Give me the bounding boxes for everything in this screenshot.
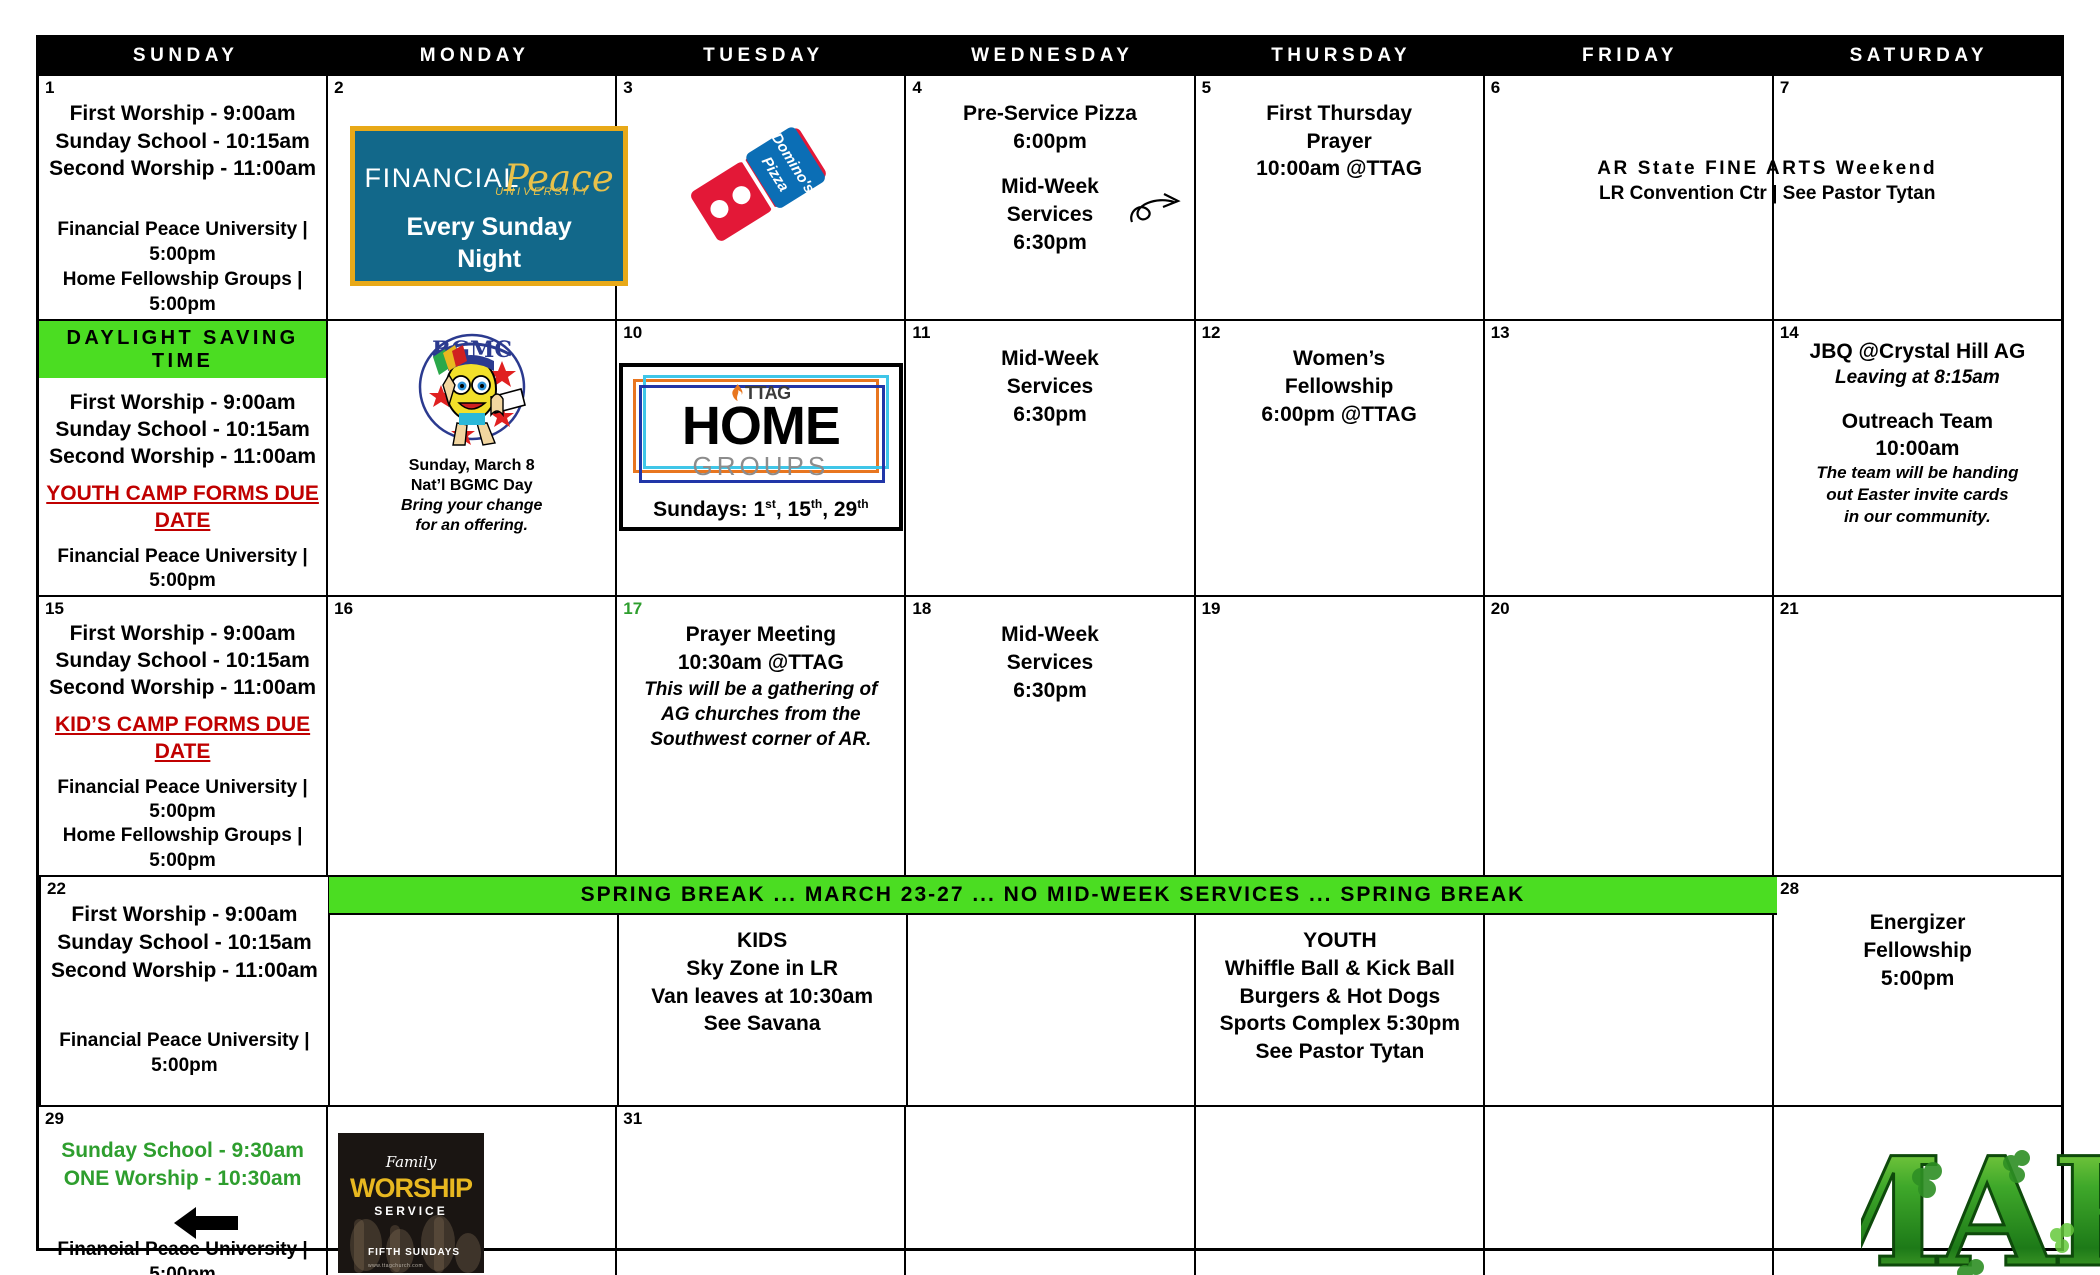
empty-cell-c: For additional information regarding the…	[1483, 1107, 1772, 1275]
event-text: See Savana	[622, 1010, 903, 1038]
day-cell-10[interactable]: 10 TTAG HOME GROUPS Sundays: 1st, 15th, …	[615, 321, 904, 595]
day-number: 22	[47, 879, 66, 899]
day-number: 10	[623, 323, 642, 343]
event-text: 6:30pm	[909, 677, 1190, 705]
svg-text:www.ttagchurch.com: www.ttagchurch.com	[368, 1263, 423, 1269]
spacer	[1777, 391, 2058, 409]
event-text: Second Worship - 11:00am	[42, 155, 323, 183]
empty-cell-b	[1194, 1107, 1483, 1275]
event-text: Southwest corner of AR.	[620, 727, 901, 752]
event-text: First Worship - 9:00am	[42, 621, 323, 648]
weekday-saturday: SATURDAY	[1772, 38, 2061, 74]
day-cell-8[interactable]: DAYLIGHT SAVING TIME First Worship - 9:0…	[39, 321, 326, 595]
event-text: See Pastor Tytan	[1199, 1038, 1480, 1066]
home-text: HOME	[682, 399, 840, 453]
day-number: 17	[623, 599, 642, 619]
sundays-label: Sundays:	[653, 498, 753, 521]
svg-text:FIFTH SUNDAYS: FIFTH SUNDAYS	[368, 1247, 460, 1258]
svg-text:SERVICE: SERVICE	[374, 1204, 447, 1218]
fpu-university-text: UNIVERSITY	[495, 186, 591, 198]
event-text: 10:00am @TTAG	[1199, 155, 1480, 183]
event-text: Services	[909, 649, 1190, 677]
event-text: Sunday School - 9:30am	[42, 1137, 323, 1165]
event-text: Leaving at 8:15am	[1777, 366, 2058, 390]
weekday-thursday: THURSDAY	[1194, 38, 1483, 74]
event-text: 10:00am	[1777, 436, 2058, 463]
event-text: Services	[909, 373, 1190, 401]
event-footer: Financial Peace University | 5:00pm	[42, 545, 323, 594]
fpu-subtitle-line1: Every Sunday	[406, 211, 571, 243]
day-number: 16	[334, 599, 353, 619]
event-text: Sunday School - 10:15am	[44, 929, 325, 957]
spacer	[42, 535, 323, 545]
day-number: 21	[1780, 599, 1799, 619]
event-text: Outreach Team	[1777, 409, 2058, 436]
event-text: Sky Zone in LR	[622, 955, 903, 983]
day-cell-18[interactable]: 18 Mid-Week Services 6:30pm	[904, 597, 1193, 875]
day-number: 11	[912, 323, 930, 343]
day-cell-7[interactable]: 7	[1772, 76, 2061, 319]
event-text: Burgers & Hot Dogs	[1199, 983, 1480, 1011]
spacer	[44, 1018, 325, 1028]
empty-cell-a: MARCH	[904, 1107, 1193, 1275]
event-text: Second Worship - 11:00am	[44, 957, 325, 985]
day-number: 31	[623, 1109, 642, 1129]
event-footer: Financial Peace University | 5:00pm	[42, 217, 323, 267]
bgmc-caption-line: Bring your change	[331, 496, 612, 516]
week-row-4: SPRING BREAK ... MARCH 23-27 ... NO MID-…	[39, 875, 2061, 1105]
event-text: Sunday School - 10:15am	[42, 648, 323, 675]
event-text: Fellowship	[1199, 373, 1480, 401]
week-row-2: DAYLIGHT SAVING TIME First Worship - 9:0…	[39, 319, 2061, 595]
day-cell-20[interactable]: 20	[1483, 597, 1772, 875]
event-text: AG churches from the	[620, 702, 901, 727]
week-row-3: 15 First Worship - 9:00am Sunday School …	[39, 595, 2061, 875]
event-text: out Easter invite cards	[1777, 484, 2058, 506]
event-footer: Home Fellowship Groups | 5:00pm	[42, 267, 323, 317]
svg-text:Family: Family	[385, 1153, 437, 1171]
day-cell-6[interactable]: 6 AR State FINE ARTS Weekend LR Conventi…	[1483, 76, 1772, 319]
bgmc-logo-icon: BGMC	[403, 327, 541, 455]
day-cell-11[interactable]: 11 Mid-Week Services 6:30pm	[904, 321, 1193, 595]
day-number: 3	[623, 78, 632, 98]
spacer	[909, 155, 1190, 173]
day-number: 19	[1202, 599, 1221, 619]
day-number: 20	[1491, 599, 1510, 619]
weekday-wednesday: WEDNESDAY	[906, 38, 1195, 74]
event-text: First Worship - 9:00am	[42, 100, 323, 128]
event-text: Mid-Week	[909, 621, 1190, 649]
curved-arrow-icon	[1126, 188, 1188, 238]
event-text: Energizer	[1777, 909, 2058, 937]
day-cell-12[interactable]: 12 Women’s Fellowship 6:00pm @TTAG	[1194, 321, 1483, 595]
bgmc-caption-line: for an offering.	[331, 516, 612, 536]
day-cell-4[interactable]: 4 Pre-Service Pizza 6:00pm Mid-Week Serv…	[904, 76, 1193, 319]
event-text: Second Worship - 11:00am	[42, 444, 323, 471]
day-number: 4	[912, 78, 921, 98]
event-text: JBQ @Crystal Hill AG	[1777, 339, 2058, 366]
day-cell-31[interactable]: 31	[615, 1107, 904, 1275]
day-cell-2[interactable]: 2 FINANCIALPeace UNIVERSITY Every Sunday…	[326, 76, 615, 319]
week-row-1: 1 First Worship - 9:00am Sunday School -…	[39, 74, 2061, 319]
event-text: 6:30pm	[909, 401, 1190, 429]
dominos-pizza-logo-icon: Domino's Pizza	[686, 124, 836, 242]
event-text: KIDS	[622, 927, 903, 955]
day-cell-22[interactable]: 22 First Worship - 9:00am Sunday School …	[39, 877, 328, 1105]
day-number: 6	[1491, 78, 1500, 98]
week-row-5: 29 Sunday School - 9:30am ONE Worship - …	[39, 1105, 2061, 1275]
event-text: 10:30am @TTAG	[620, 649, 901, 677]
day-number: 14	[1780, 323, 1799, 343]
event-text: This will be a gathering of	[620, 677, 901, 702]
day-cell-30[interactable]: 30	[326, 1107, 615, 1275]
youth-camp-forms-due-note: YOUTH CAMP FORMS DUE DATE	[42, 481, 323, 535]
day-cell-9[interactable]: 9 BGMC	[326, 321, 615, 595]
event-text: 5:00pm	[1777, 965, 2058, 993]
event-text: Van leaves at 10:30am	[622, 983, 903, 1011]
day-number: 18	[912, 599, 931, 619]
event-text: ONE Worship - 10:30am	[42, 1165, 323, 1193]
spacer	[42, 183, 323, 217]
bgmc-caption-line: Sunday, March 8	[331, 456, 612, 476]
day-cell-21[interactable]: 21	[1772, 597, 2061, 875]
event-text: Pre-Service Pizza	[909, 100, 1190, 128]
weekday-friday: FRIDAY	[1483, 38, 1772, 74]
fpu-logo: FINANCIALPeace UNIVERSITY	[355, 153, 623, 193]
event-text: First Worship - 9:00am	[44, 901, 325, 929]
kids-camp-forms-due-note: KID’S CAMP FORMS DUE DATE	[42, 712, 323, 766]
weekday-monday: MONDAY	[328, 38, 617, 74]
event-text: Prayer Meeting	[620, 621, 901, 649]
day-number: 15	[45, 599, 64, 619]
bgmc-block: BGMC	[331, 323, 612, 535]
event-text: First Worship - 9:00am	[42, 390, 323, 417]
ttag-home-groups-logo[interactable]: TTAG HOME GROUPS Sundays: 1st, 15th, 29t…	[619, 363, 903, 531]
day-number: 7	[1780, 78, 1789, 98]
day-number: 12	[1202, 323, 1221, 343]
event-text: The team will be handing	[1777, 462, 2058, 484]
event-text: Fellowship	[1777, 937, 2058, 965]
weekday-sunday: SUNDAY	[39, 38, 328, 74]
day-number: 13	[1491, 323, 1510, 343]
day-number: 5	[1202, 78, 1211, 98]
day-number: 28	[1780, 879, 1799, 899]
day-cell-16[interactable]: 16	[326, 597, 615, 875]
event-footer: Financial Peace University | 5:00pm	[42, 776, 323, 825]
event-text: YOUTH	[1199, 927, 1480, 955]
event-text: 6:00pm @TTAG	[1199, 401, 1480, 429]
fpu-subtitle: Every Sunday Night	[406, 211, 571, 275]
calendar-page: SUNDAY MONDAY TUESDAY WEDNESDAY THURSDAY…	[0, 0, 2100, 1275]
day-cell-14[interactable]: 14 JBQ @Crystal Hill AG Leaving at 8:15a…	[1772, 321, 2061, 595]
event-text: Sports Complex 5:30pm	[1199, 1010, 1480, 1038]
day-cell-29[interactable]: 29 Sunday School - 9:30am ONE Worship - …	[39, 1107, 326, 1275]
spacer	[42, 471, 323, 481]
home-groups-logo-frame: TTAG HOME GROUPS	[631, 375, 891, 485]
home-groups-dates: Sundays: 1st, 15th, 29th	[631, 497, 891, 522]
day-cell-19[interactable]: 19	[1194, 597, 1483, 875]
day-number: 1	[45, 78, 54, 98]
financial-peace-university-banner[interactable]: FINANCIALPeace UNIVERSITY Every Sunday N…	[350, 126, 628, 286]
event-text: Mid-Week	[909, 345, 1190, 373]
daylight-saving-time-banner: DAYLIGHT SAVING TIME	[39, 321, 326, 378]
day-cell-13[interactable]: 13	[1483, 321, 1772, 595]
event-footer: Home Fellowship Groups | 5:00pm	[42, 824, 323, 873]
event-text: First Thursday	[1199, 100, 1480, 128]
day-cell-15[interactable]: 15 First Worship - 9:00am Sunday School …	[39, 597, 326, 875]
event-text: Women’s	[1199, 345, 1480, 373]
day-cell-5[interactable]: 5 First Thursday Prayer 10:00am @TTAG	[1194, 76, 1483, 319]
family-worship-service-image[interactable]: Family WORSHIP SERVICE FIFTH SUNDAYS www…	[338, 1133, 484, 1273]
groups-text: GROUPS	[693, 453, 830, 479]
event-footer: Financial Peace University | 5:00pm	[44, 1028, 325, 1078]
bgmc-caption-line: Nat’l BGMC Day	[331, 476, 612, 496]
weekday-header-row: SUNDAY MONDAY TUESDAY WEDNESDAY THURSDAY…	[39, 38, 2061, 74]
day-number: 2	[334, 78, 343, 98]
event-text: Sunday School - 10:15am	[42, 128, 323, 156]
left-arrow-icon	[174, 1203, 238, 1243]
fpu-subtitle-line2: Night	[406, 243, 571, 275]
svg-text:WORSHIP: WORSHIP	[350, 1173, 473, 1203]
event-text: Sunday School - 10:15am	[42, 417, 323, 444]
event-text: Second Worship - 11:00am	[42, 675, 323, 702]
weekday-tuesday: TUESDAY	[617, 38, 906, 74]
event-text: Prayer	[1199, 128, 1480, 156]
day-cell-17[interactable]: 17 Prayer Meeting 10:30am @TTAG This wil…	[615, 597, 904, 875]
calendar-grid: SUNDAY MONDAY TUESDAY WEDNESDAY THURSDAY…	[36, 35, 2064, 1251]
event-text: in our community.	[1777, 506, 2058, 528]
march-month-graphic: MARCH	[1861, 1115, 2100, 1275]
event-text: 6:00pm	[909, 128, 1190, 156]
spacer	[42, 702, 323, 712]
day-cell-28[interactable]: 28 Energizer Fellowship 5:00pm	[1772, 877, 2061, 1105]
spacer	[42, 766, 323, 776]
day-number: 29	[45, 1109, 64, 1129]
spacer	[44, 984, 325, 1018]
event-text: Whiffle Ball & Kick Ball	[1199, 955, 1480, 983]
spring-break-banner: SPRING BREAK ... MARCH 23-27 ... NO MID-…	[329, 877, 1777, 915]
day-cell-1[interactable]: 1 First Worship - 9:00am Sunday School -…	[39, 76, 326, 319]
day-cell-3[interactable]: 3 Domino's	[615, 76, 904, 319]
bgmc-caption: Sunday, March 8 Nat’l BGMC Day Bring you…	[331, 456, 612, 535]
